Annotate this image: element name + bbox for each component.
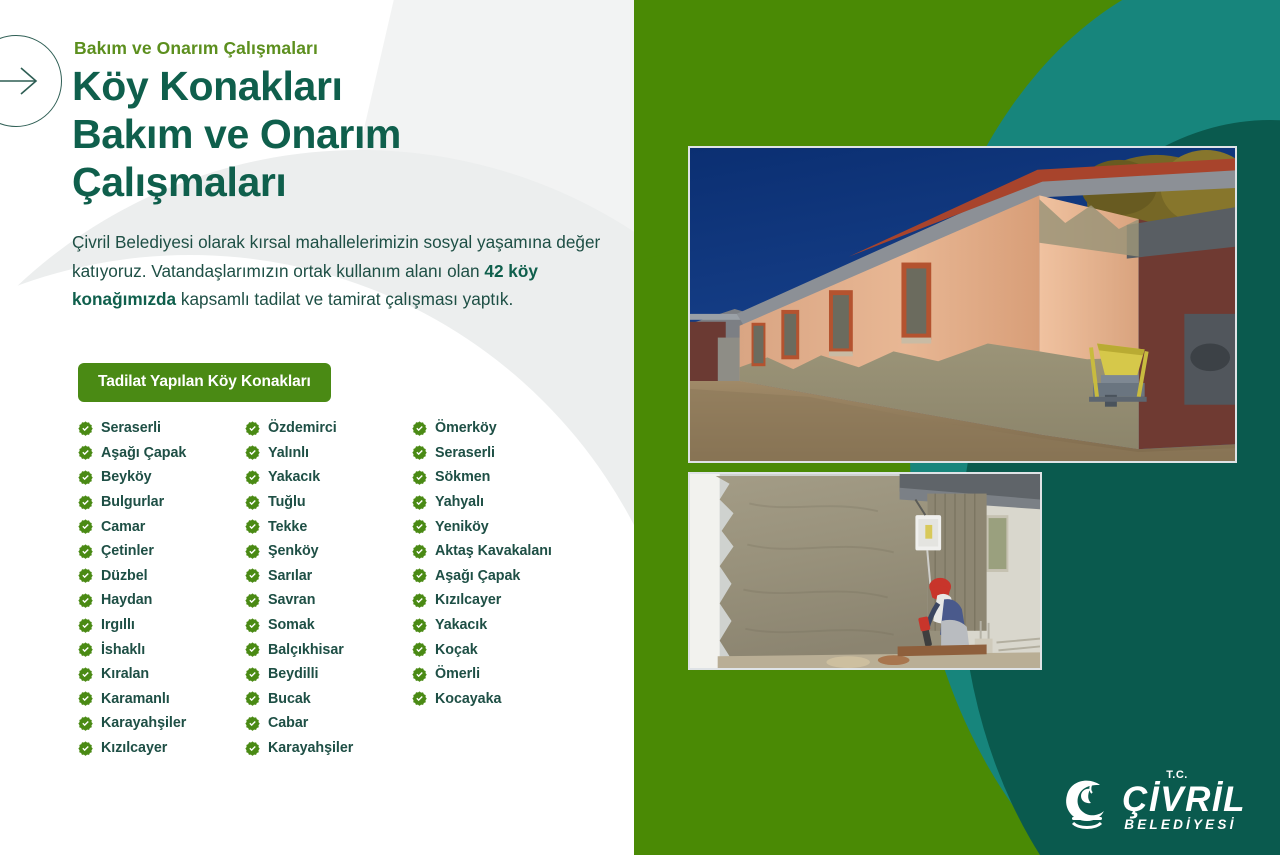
village-name: Karamanlı	[101, 691, 170, 707]
check-badge-icon	[245, 544, 260, 559]
village-name: Seraserli	[101, 420, 161, 436]
logo-emblem-icon	[1059, 775, 1115, 831]
list-item: Yalınlı	[245, 441, 412, 466]
village-name: Balçıkhisar	[268, 642, 344, 658]
check-badge-icon	[412, 544, 427, 559]
check-badge-icon	[245, 445, 260, 460]
list-item: Haydan	[78, 588, 245, 613]
page-title: Köy Konakları Bakım ve Onarım Çalışmalar…	[72, 62, 401, 206]
eyebrow-text: Bakım ve Onarım Çalışmaları	[74, 38, 318, 59]
check-badge-icon	[412, 445, 427, 460]
check-badge-icon	[245, 470, 260, 485]
check-badge-icon	[78, 568, 93, 583]
check-badge-icon	[245, 495, 260, 510]
check-badge-icon	[78, 544, 93, 559]
list-item: Karayahşiler	[245, 736, 412, 761]
civril-belediyesi-logo: T.C. ÇİVRİL BELEDİYESİ	[1059, 770, 1246, 832]
tadilat-yapilan-koy-konaklari-button[interactable]: Tadilat Yapılan Köy Konakları	[78, 363, 331, 402]
village-name: Şenköy	[268, 543, 319, 559]
list-item: Koçak	[412, 637, 612, 662]
logo-subtitle-text: BELEDİYESİ	[1124, 818, 1246, 832]
list-item: Sökmen	[412, 465, 612, 490]
check-badge-icon	[245, 667, 260, 682]
check-badge-icon	[412, 618, 427, 633]
list-item: Savran	[245, 588, 412, 613]
list-item: Beydilli	[245, 662, 412, 687]
village-name: Aktaş Kavakalanı	[435, 543, 552, 559]
check-badge-icon	[245, 421, 260, 436]
village-name: Yahyalı	[435, 494, 484, 510]
list-item: Camar	[78, 514, 245, 539]
check-badge-icon	[78, 691, 93, 706]
list-item: Kızılcayer	[412, 588, 612, 613]
list-item: Seraserli	[78, 416, 245, 441]
check-badge-icon	[78, 593, 93, 608]
village-name: Çetinler	[101, 543, 154, 559]
village-name: Kızılcayer	[101, 740, 167, 756]
list-item: Ömerköy	[412, 416, 612, 441]
village-name: Yalınlı	[268, 445, 309, 461]
list-item: Aşağı Çapak	[78, 441, 245, 466]
village-name: Bucak	[268, 691, 311, 707]
list-item: Kocayaka	[412, 687, 612, 712]
check-badge-icon	[245, 691, 260, 706]
check-badge-icon	[78, 445, 93, 460]
check-badge-icon	[245, 642, 260, 657]
list-item: Kıralan	[78, 662, 245, 687]
village-name: Beydilli	[268, 666, 318, 682]
village-name: İshaklı	[101, 642, 145, 658]
list-item: Kızılcayer	[78, 736, 245, 761]
village-name: Aşağı Çapak	[101, 445, 186, 461]
list-item: Irgıllı	[78, 613, 245, 638]
check-badge-icon	[412, 642, 427, 657]
list-item: Yakacık	[245, 465, 412, 490]
village-list-column-3: ÖmerköySeraserliSökmenYahyalıYeniköyAkta…	[412, 416, 612, 760]
logo-text-block: T.C. ÇİVRİL BELEDİYESİ	[1122, 770, 1246, 832]
logo-name-text: ÇİVRİL	[1122, 782, 1246, 817]
village-name: Sarılar	[268, 568, 312, 584]
check-badge-icon	[78, 470, 93, 485]
list-item: Düzbel	[78, 564, 245, 589]
check-badge-icon	[245, 618, 260, 633]
village-name: Ömerköy	[435, 420, 497, 436]
list-item: Ömerli	[412, 662, 612, 687]
list-item: Tuğlu	[245, 490, 412, 515]
village-name: Düzbel	[101, 568, 148, 584]
village-name: Irgıllı	[101, 617, 135, 633]
check-badge-icon	[412, 519, 427, 534]
list-item: Bucak	[245, 687, 412, 712]
list-item: Somak	[245, 613, 412, 638]
list-item: Bulgurlar	[78, 490, 245, 515]
poster-canvas: Bakım ve Onarım Çalışmaları Köy Konaklar…	[0, 0, 1280, 855]
village-name: Koçak	[435, 642, 478, 658]
check-badge-icon	[245, 716, 260, 731]
village-name: Yakacık	[435, 617, 487, 633]
village-name: Ömerli	[435, 666, 480, 682]
village-name: Haydan	[101, 592, 152, 608]
check-badge-icon	[245, 741, 260, 756]
list-item: İshaklı	[78, 637, 245, 662]
village-name: Bulgurlar	[101, 494, 164, 510]
list-item: Karamanlı	[78, 687, 245, 712]
village-name: Savran	[268, 592, 315, 608]
check-badge-icon	[412, 470, 427, 485]
village-list-group: SeraserliAşağı ÇapakBeyköyBulgurlarCamar…	[78, 416, 623, 760]
village-name: Özdemirci	[268, 420, 337, 436]
body-paragraph: Çivril Belediyesi olarak kırsal mahallel…	[72, 228, 602, 314]
village-name: Tuğlu	[268, 494, 306, 510]
village-name: Kocayaka	[435, 691, 501, 707]
check-badge-icon	[78, 495, 93, 510]
list-item: Balçıkhisar	[245, 637, 412, 662]
check-badge-icon	[412, 495, 427, 510]
check-badge-icon	[412, 691, 427, 706]
check-badge-icon	[245, 568, 260, 583]
check-badge-icon	[245, 593, 260, 608]
list-item: Yeniköy	[412, 514, 612, 539]
village-name: Yeniköy	[435, 519, 489, 535]
village-name: Sökmen	[435, 469, 490, 485]
worker-plastering-wall-photo	[688, 472, 1042, 670]
logo-tc-text: T.C.	[1166, 770, 1246, 781]
check-badge-icon	[78, 618, 93, 633]
list-item: Aşağı Çapak	[412, 564, 612, 589]
village-name: Cabar	[268, 715, 308, 731]
list-item: Çetinler	[78, 539, 245, 564]
list-item: Seraserli	[412, 441, 612, 466]
list-item: Yakacık	[412, 613, 612, 638]
check-badge-icon	[78, 716, 93, 731]
check-badge-icon	[412, 593, 427, 608]
village-name: Beyköy	[101, 469, 152, 485]
village-name: Tekke	[268, 519, 307, 535]
list-item: Beyköy	[78, 465, 245, 490]
village-list-column-2: ÖzdemirciYalınlıYakacıkTuğluTekkeŞenköyS…	[245, 416, 412, 760]
list-item: Özdemirci	[245, 416, 412, 441]
check-badge-icon	[78, 642, 93, 657]
headline-line-2: Bakım ve Onarım	[72, 110, 401, 158]
check-badge-icon	[78, 741, 93, 756]
check-badge-icon	[412, 568, 427, 583]
village-name: Aşağı Çapak	[435, 568, 520, 584]
list-item: Yahyalı	[412, 490, 612, 515]
village-name: Karayahşiler	[101, 715, 186, 731]
village-name: Somak	[268, 617, 315, 633]
village-list-column-1: SeraserliAşağı ÇapakBeyköyBulgurlarCamar…	[78, 416, 245, 760]
check-badge-icon	[412, 421, 427, 436]
check-badge-icon	[78, 667, 93, 682]
list-item: Şenköy	[245, 539, 412, 564]
body-text-part-2: kapsamlı tadilat ve tamirat çalışması ya…	[176, 289, 513, 309]
village-name: Karayahşiler	[268, 740, 353, 756]
list-item: Sarılar	[245, 564, 412, 589]
list-item: Karayahşiler	[78, 711, 245, 736]
list-item: Cabar	[245, 711, 412, 736]
white-bottom-fill	[0, 770, 634, 855]
check-badge-icon	[78, 519, 93, 534]
village-name: Seraserli	[435, 445, 495, 461]
headline-line-3: Çalışmaları	[72, 158, 401, 206]
headline-line-1: Köy Konakları	[72, 62, 401, 110]
list-item: Aktaş Kavakalanı	[412, 539, 612, 564]
check-badge-icon	[78, 421, 93, 436]
list-item: Tekke	[245, 514, 412, 539]
check-badge-icon	[412, 667, 427, 682]
village-name: Camar	[101, 519, 145, 535]
village-name: Kızılcayer	[435, 592, 501, 608]
village-name: Kıralan	[101, 666, 149, 682]
check-badge-icon	[245, 519, 260, 534]
village-name: Yakacık	[268, 469, 320, 485]
left-content-panel: Bakım ve Onarım Çalışmaları Köy Konaklar…	[0, 0, 634, 855]
village-house-exterior-photo	[688, 146, 1237, 463]
